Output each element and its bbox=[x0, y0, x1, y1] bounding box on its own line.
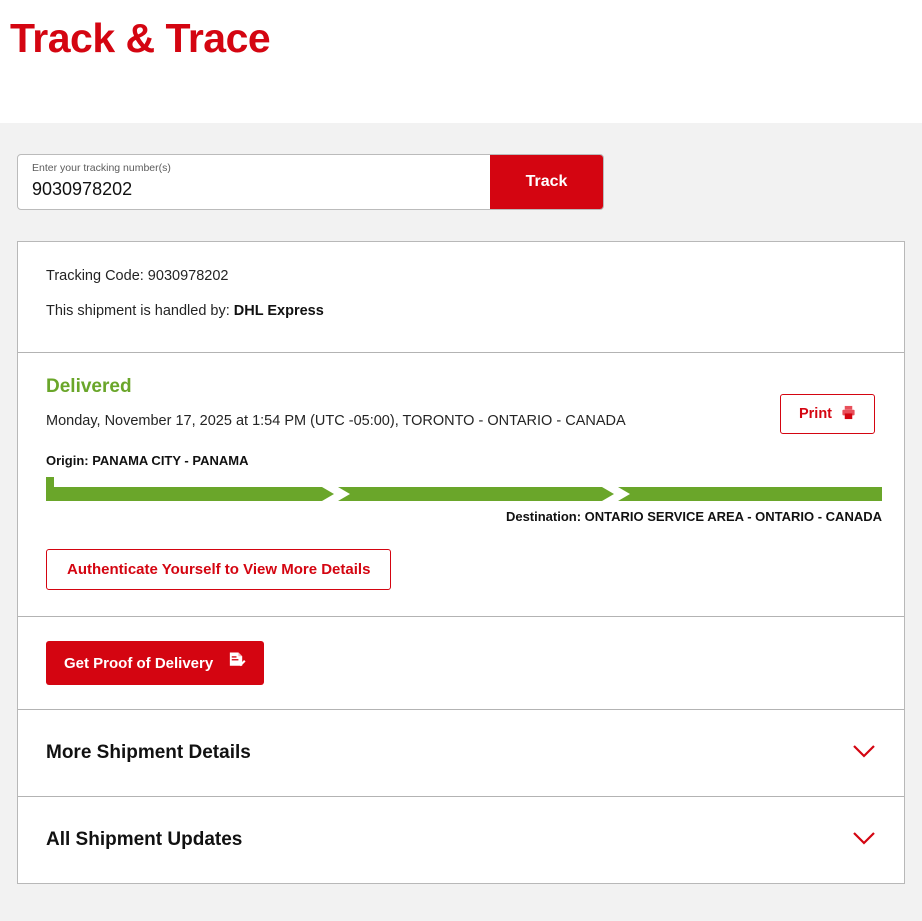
page-header: Track & Trace bbox=[0, 0, 922, 123]
shipment-progress-bar bbox=[46, 477, 882, 501]
tracking-input-label: Enter your tracking number(s) bbox=[32, 162, 476, 175]
chevron-down-icon[interactable] bbox=[852, 831, 876, 850]
proof-of-delivery-section: Get Proof of Delivery bbox=[18, 617, 904, 709]
chevron-down-icon[interactable] bbox=[852, 744, 876, 763]
handled-by-text: This shipment is handled by: DHL Express bbox=[46, 301, 876, 321]
carrier-name: DHL Express bbox=[234, 303, 324, 319]
tracking-number-field[interactable]: Enter your tracking number(s) bbox=[18, 155, 490, 209]
page-content: Enter your tracking number(s) Track Trac… bbox=[0, 123, 922, 921]
accordion-all-shipment-updates[interactable]: All Shipment Updates bbox=[18, 797, 904, 883]
pod-button-label: Get Proof of Delivery bbox=[64, 655, 213, 672]
get-proof-of-delivery-button[interactable]: Get Proof of Delivery bbox=[46, 641, 264, 685]
page-title: Track & Trace bbox=[10, 8, 270, 68]
accordion-title: More Shipment Details bbox=[46, 742, 251, 764]
progress-bar-graphic bbox=[46, 477, 882, 501]
tracking-code-text: Tracking Code: 9030978202 bbox=[46, 266, 876, 286]
shipment-status-section: Delivered Monday, November 17, 2025 at 1… bbox=[18, 353, 904, 616]
search-input[interactable] bbox=[32, 176, 476, 202]
accordion-more-shipment-details[interactable]: More Shipment Details bbox=[18, 710, 904, 796]
handled-by-prefix: This shipment is handled by: bbox=[46, 303, 230, 319]
status-badge: Delivered bbox=[46, 375, 876, 399]
document-signature-icon bbox=[227, 651, 246, 675]
shipment-meta-section: Tracking Code: 9030978202 This shipment … bbox=[18, 242, 904, 352]
track-button[interactable]: Track bbox=[490, 155, 603, 209]
status-datetime: Monday, November 17, 2025 at 1:54 PM (UT… bbox=[46, 411, 876, 431]
origin-label: Origin: PANAMA CITY - PANAMA bbox=[46, 453, 876, 469]
shipment-result-card: Tracking Code: 9030978202 This shipment … bbox=[17, 241, 905, 884]
destination-label: Destination: ONTARIO SERVICE AREA - ONTA… bbox=[46, 509, 882, 525]
tracking-search-bar: Enter your tracking number(s) Track bbox=[17, 154, 604, 210]
authenticate-button[interactable]: Authenticate Yourself to View More Detai… bbox=[46, 549, 391, 590]
accordion-title: All Shipment Updates bbox=[46, 829, 242, 851]
